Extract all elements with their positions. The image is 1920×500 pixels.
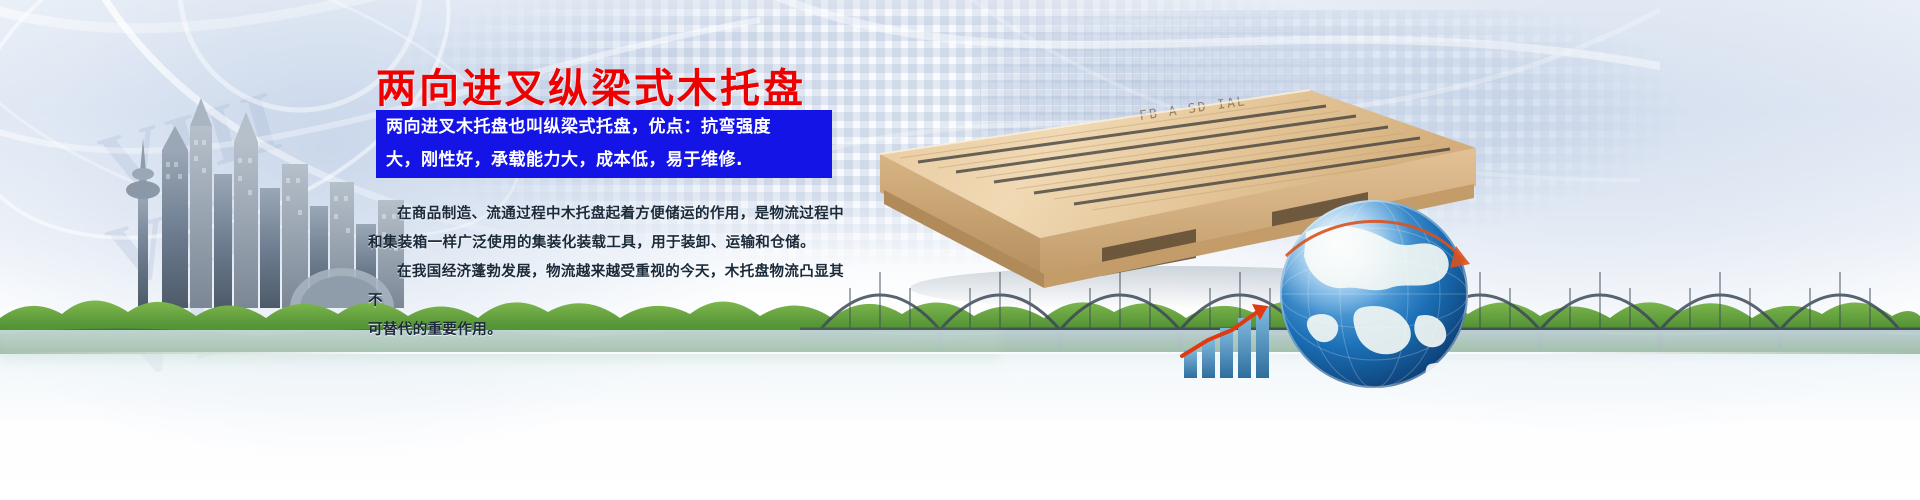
description-line-4: 可替代的重要作用。 xyxy=(368,316,844,345)
description-line-3: 在我国经济蓬勃发展，物流越来越受重视的今天，木托盘物流凸显其不 xyxy=(368,258,844,316)
green-tree-line xyxy=(0,272,1920,354)
swoosh-arcs-right xyxy=(760,0,1660,310)
wooden-pallet-photo: FB A SD IAL xyxy=(840,62,1480,312)
svg-text:FB A SD IAL: FB A SD IAL xyxy=(1138,94,1247,124)
growth-bar-chart-with-arrow xyxy=(1178,300,1298,378)
background-haze-right xyxy=(1100,0,1920,440)
page-title: 两向进叉纵梁式木托盘 xyxy=(376,56,806,114)
water-horizon-line xyxy=(0,352,1920,354)
highlight-callout-box: 两向进叉木托盘也叫纵梁式托盘，优点：抗弯强度 大，刚性好，承载能力大，成本低，易… xyxy=(376,110,832,178)
highlight-line-1: 两向进叉木托盘也叫纵梁式托盘，优点：抗弯强度 xyxy=(386,111,822,144)
description-line-2: 和集装箱一样广泛使用的集装化装载工具，用于装卸、运输和仓储。 xyxy=(368,229,844,258)
dot-matrix-map-right xyxy=(980,10,1720,260)
highlight-line-2: 大，刚性好，承载能力大，成本低，易于维修. xyxy=(386,144,822,177)
arch-bridge xyxy=(800,244,1920,362)
description-line-1: 在商品制造、流通过程中木托盘起着方便储运的作用，是物流过程中 xyxy=(368,200,844,229)
description-paragraph: 在商品制造、流通过程中木托盘起着方便储运的作用，是物流过程中 和集装箱一样广泛使… xyxy=(368,200,844,345)
water-reflection-band xyxy=(0,330,1920,430)
product-banner: VIIIVIIVI xyxy=(0,0,1920,500)
blue-earth-globe xyxy=(1268,196,1480,408)
